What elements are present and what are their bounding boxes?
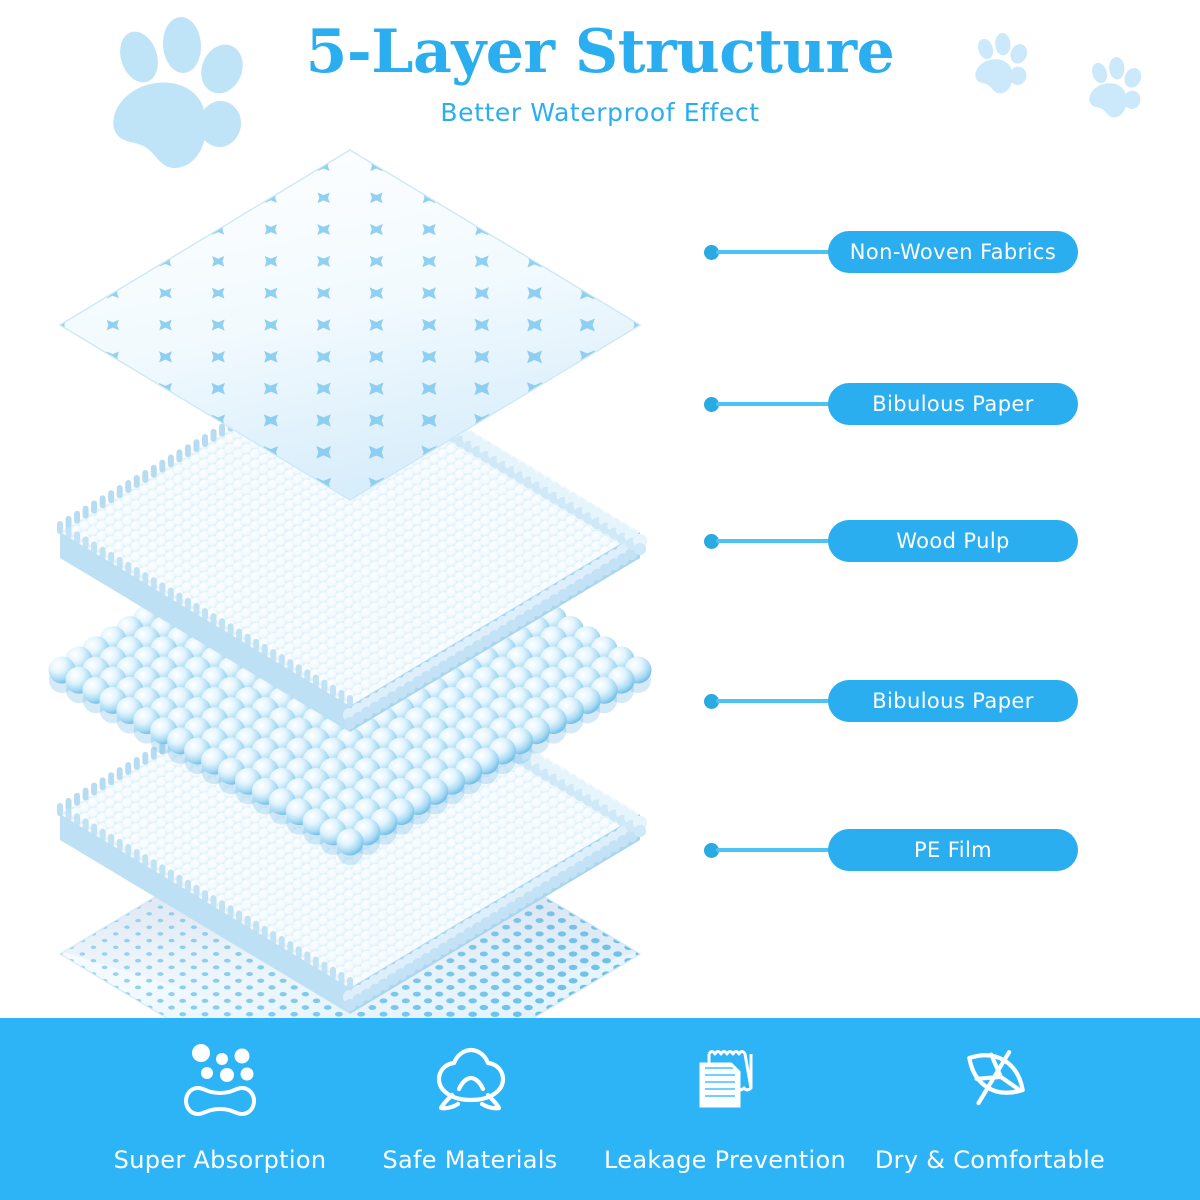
- callout-pill-pe-film[interactable]: PE Film: [828, 829, 1078, 871]
- sponge-bubbles-icon: [174, 1042, 266, 1120]
- callout-label-5: PE Film: [914, 838, 992, 862]
- page-subtitle: Better Waterproof Effect: [0, 98, 1200, 127]
- callout-label-2: Bibulous Paper: [872, 392, 1034, 416]
- feature-leakage-prevention[interactable]: Leakage Prevention: [575, 1018, 875, 1200]
- leaf-icon: [944, 1042, 1036, 1120]
- feature-dry-comfortable[interactable]: Dry & Comfortable: [840, 1018, 1140, 1200]
- smiling-cloud-icon: [424, 1042, 516, 1120]
- feature-banner: Super Absorption Safe Materials: [0, 1018, 1200, 1200]
- layer-non-woven-fabrics: [54, 150, 648, 500]
- callout-pill-bibulous-paper-top[interactable]: Bibulous Paper: [828, 383, 1078, 425]
- page-title: 5-Layer Structure: [0, 22, 1200, 82]
- callout-label-1: Non-Woven Fabrics: [850, 240, 1056, 264]
- callout-pill-bibulous-paper-bottom[interactable]: Bibulous Paper: [828, 680, 1078, 722]
- infographic-root: 5-Layer Structure Better Waterproof Effe…: [0, 0, 1200, 1200]
- callout-line-2: [716, 402, 836, 406]
- callout-pill-wood-pulp[interactable]: Wood Pulp: [828, 520, 1078, 562]
- callout-line-3: [716, 539, 836, 543]
- callout-line-4: [716, 699, 836, 703]
- callout-label-4: Bibulous Paper: [872, 689, 1034, 713]
- feature-label-dry-comfortable: Dry & Comfortable: [840, 1146, 1140, 1174]
- header: 5-Layer Structure Better Waterproof Effe…: [0, 0, 1200, 150]
- layer-stack-svg: [0, 140, 700, 1020]
- callout-pill-non-woven-fabrics[interactable]: Non-Woven Fabrics: [828, 231, 1078, 273]
- stacked-fabric-icon: [679, 1042, 771, 1120]
- callout-line-5: [716, 848, 836, 852]
- callout-label-3: Wood Pulp: [896, 529, 1010, 553]
- callout-line-1: [716, 250, 836, 254]
- feature-label-leakage-prevention: Leakage Prevention: [575, 1146, 875, 1174]
- layer-stack-illustration: [0, 140, 700, 1020]
